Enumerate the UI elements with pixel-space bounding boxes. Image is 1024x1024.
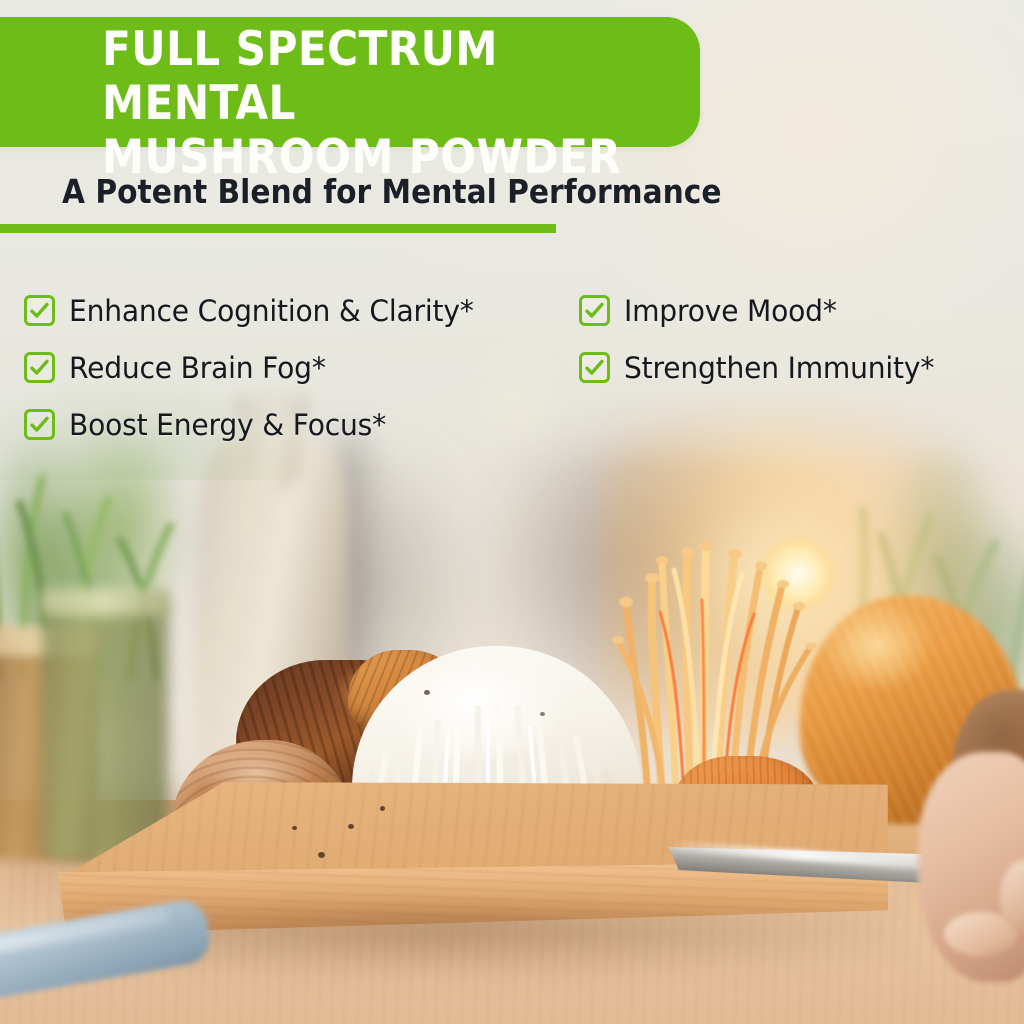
list-item: Strengthen Immunity* xyxy=(579,339,1019,396)
list-item: Enhance Cognition & Clarity* xyxy=(24,282,564,339)
list-item: Boost Energy & Focus* xyxy=(24,396,564,453)
lions-mane-speck-b xyxy=(540,712,545,716)
page-title-line-1: FULL SPECTRUM MENTAL xyxy=(102,23,642,131)
list-item-label: Boost Energy & Focus* xyxy=(69,408,386,442)
list-item: Improve Mood* xyxy=(579,282,1019,339)
spice-jar-back xyxy=(42,600,168,860)
spice-jar-back-lid xyxy=(40,588,170,616)
debris-speck-a xyxy=(318,852,325,858)
check-square-icon xyxy=(24,409,55,440)
check-square-icon xyxy=(579,352,610,383)
benefits-column-right: Improve Mood* Strengthen Immunity* xyxy=(579,282,1019,396)
list-item-label: Enhance Cognition & Clarity* xyxy=(69,294,474,328)
list-item-label: Strengthen Immunity* xyxy=(624,351,934,385)
page-subtitle: A Potent Blend for Mental Performance xyxy=(62,172,722,211)
check-square-icon xyxy=(579,295,610,326)
page-title: FULL SPECTRUM MENTAL MUSHROOM POWDER xyxy=(102,23,642,185)
debris-speck-b xyxy=(348,824,354,829)
check-square-icon xyxy=(24,352,55,383)
list-item-label: Reduce Brain Fog* xyxy=(69,351,326,385)
benefits-column-left: Enhance Cognition & Clarity* Reduce Brai… xyxy=(24,282,564,453)
debris-speck-d xyxy=(380,806,385,811)
product-infographic: FULL SPECTRUM MENTAL MUSHROOM POWDER A P… xyxy=(0,0,1024,1024)
check-square-icon xyxy=(24,295,55,326)
list-item: Reduce Brain Fog* xyxy=(24,339,564,396)
debris-speck-c xyxy=(292,826,297,830)
divider xyxy=(0,224,556,233)
lions-mane-speck-a xyxy=(424,690,430,695)
list-item-label: Improve Mood* xyxy=(624,294,837,328)
